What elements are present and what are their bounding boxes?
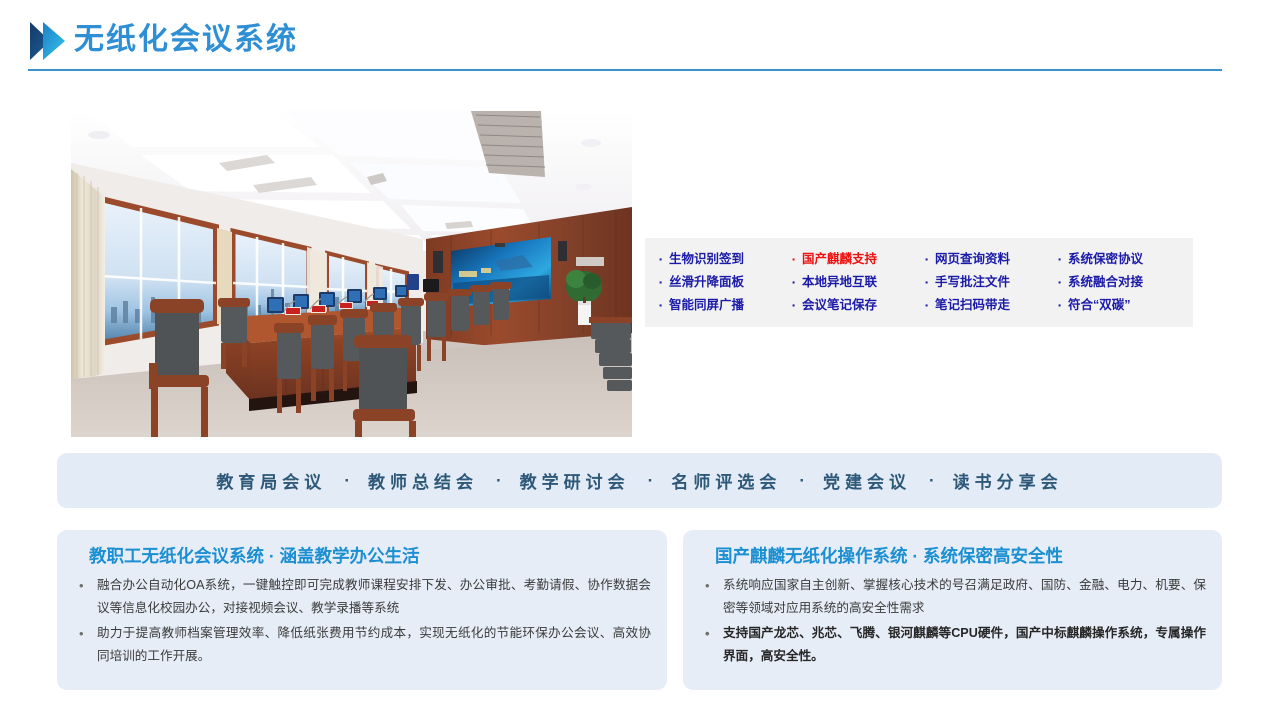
card-title: 国产麒麟无纸化操作系统 · 系统保密高安全性 xyxy=(715,544,1206,568)
meeting-type-separator: · xyxy=(484,471,514,491)
page-title: 无纸化会议系统 xyxy=(74,18,298,62)
meeting-type-separator: · xyxy=(787,471,817,491)
meeting-type-item[interactable]: 教育局会议 xyxy=(210,468,332,493)
meeting-type-item[interactable]: 教学研讨会 xyxy=(514,468,636,493)
feature-column: · 国产麒麟支持 · 本地异地互联 · 会议笔记保存 xyxy=(786,252,919,313)
feature-label: 系统融合对接 xyxy=(1068,275,1143,290)
meeting-type-item[interactable]: 读书分享会 xyxy=(947,468,1069,493)
bullet-icon: · xyxy=(919,298,935,313)
info-card-right: 国产麒麟无纸化操作系统 · 系统保密高安全性 系统响应国家自主创新、掌握核心技术… xyxy=(683,530,1222,690)
feature-label: 手写批注文件 xyxy=(935,275,1010,290)
feature-item[interactable]: · 笔记扫码带走 xyxy=(919,298,1052,313)
feature-item[interactable]: · 符合“双碳” xyxy=(1052,298,1185,313)
feature-label: 生物识别签到 xyxy=(669,252,744,267)
slide-root: 无纸化会议系统 xyxy=(0,0,1280,720)
card-title: 教职工无纸化会议系统 · 涵盖教学办公生活 xyxy=(89,544,651,568)
header-divider xyxy=(28,69,1222,71)
feature-item[interactable]: · 手写批注文件 xyxy=(919,275,1052,290)
bullet-icon: · xyxy=(653,298,669,313)
bullet-icon: · xyxy=(1052,252,1068,267)
feature-item-highlighted[interactable]: · 国产麒麟支持 xyxy=(786,252,919,267)
double-chevron-right-icon xyxy=(28,20,68,62)
bullet-icon: · xyxy=(1052,275,1068,290)
card-bullet-item: 系统响应国家自主创新、掌握核心技术的号召满足政府、国防、金融、电力、机要、保密等… xyxy=(701,574,1206,620)
card-bullet-item: 融合办公自动化OA系统，一键触控即可完成教师课程安排下发、办公审批、考勤请假、协… xyxy=(75,574,651,620)
card-bullet-item: 助力于提高教师档案管理效率、降低纸张费用节约成本，实现无纸化的节能环保办公会议、… xyxy=(75,622,651,668)
feature-item[interactable]: · 系统保密协议 xyxy=(1052,252,1185,267)
feature-item[interactable]: · 本地异地互联 xyxy=(786,275,919,290)
bullet-icon: · xyxy=(919,252,935,267)
meeting-type-separator: · xyxy=(332,471,362,491)
feature-label: 系统保密协议 xyxy=(1068,252,1143,267)
meeting-type-item[interactable]: 名师评选会 xyxy=(665,468,787,493)
feature-item[interactable]: · 系统融合对接 xyxy=(1052,275,1185,290)
feature-column: · 生物识别签到 · 丝滑升降面板 · 智能同屏广播 xyxy=(653,252,786,313)
feature-label: 国产麒麟支持 xyxy=(802,252,877,267)
feature-label: 丝滑升降面板 xyxy=(669,275,744,290)
feature-label: 笔记扫码带走 xyxy=(935,298,1010,313)
info-card-left: 教职工无纸化会议系统 · 涵盖教学办公生活 融合办公自动化OA系统，一键触控即可… xyxy=(57,530,667,690)
bullet-icon: · xyxy=(786,252,802,267)
feature-label: 智能同屏广播 xyxy=(669,298,744,313)
bullet-icon: · xyxy=(919,275,935,290)
feature-item[interactable]: · 网页查询资料 xyxy=(919,252,1052,267)
conference-room-photo xyxy=(71,111,632,437)
bullet-icon: · xyxy=(786,275,802,290)
feature-item[interactable]: · 丝滑升降面板 xyxy=(653,275,786,290)
bullet-icon: · xyxy=(786,298,802,313)
card-bullet-item-emphasized: 支持国产龙芯、兆芯、飞腾、银河麒麟等CPU硬件，国产中标麒麟操作系统，专属操作界… xyxy=(701,622,1206,668)
bullet-icon: · xyxy=(653,275,669,290)
card-bullet-list: 系统响应国家自主创新、掌握核心技术的号召满足政府、国防、金融、电力、机要、保密等… xyxy=(701,574,1206,668)
feature-item[interactable]: · 智能同屏广播 xyxy=(653,298,786,313)
bullet-icon: · xyxy=(653,252,669,267)
meeting-type-separator: · xyxy=(636,471,666,491)
feature-tag-panel: · 生物识别签到 · 丝滑升降面板 · 智能同屏广播 · 国产麒麟支持 · 本地… xyxy=(645,238,1193,327)
meeting-type-item[interactable]: 教师总结会 xyxy=(362,468,484,493)
meeting-types-band: 教育局会议 · 教师总结会 · 教学研讨会 · 名师评选会 · 党建会议 · 读… xyxy=(57,453,1222,508)
bullet-icon: · xyxy=(1052,298,1068,313)
feature-column: · 网页查询资料 · 手写批注文件 · 笔记扫码带走 xyxy=(919,252,1052,313)
card-bullet-list: 融合办公自动化OA系统，一键触控即可完成教师课程安排下发、办公审批、考勤请假、协… xyxy=(75,574,651,668)
meeting-types-list: 教育局会议 · 教师总结会 · 教学研讨会 · 名师评选会 · 党建会议 · 读… xyxy=(210,468,1068,493)
feature-item[interactable]: · 生物识别签到 xyxy=(653,252,786,267)
feature-label: 本地异地互联 xyxy=(802,275,877,290)
feature-label: 会议笔记保存 xyxy=(802,298,877,313)
feature-label: 符合“双碳” xyxy=(1068,298,1131,313)
meeting-type-separator: · xyxy=(917,471,947,491)
feature-label: 网页查询资料 xyxy=(935,252,1010,267)
feature-column: · 系统保密协议 · 系统融合对接 · 符合“双碳” xyxy=(1052,252,1185,313)
feature-item[interactable]: · 会议笔记保存 xyxy=(786,298,919,313)
page-header: 无纸化会议系统 xyxy=(28,14,1222,70)
meeting-type-item[interactable]: 党建会议 xyxy=(817,468,917,493)
